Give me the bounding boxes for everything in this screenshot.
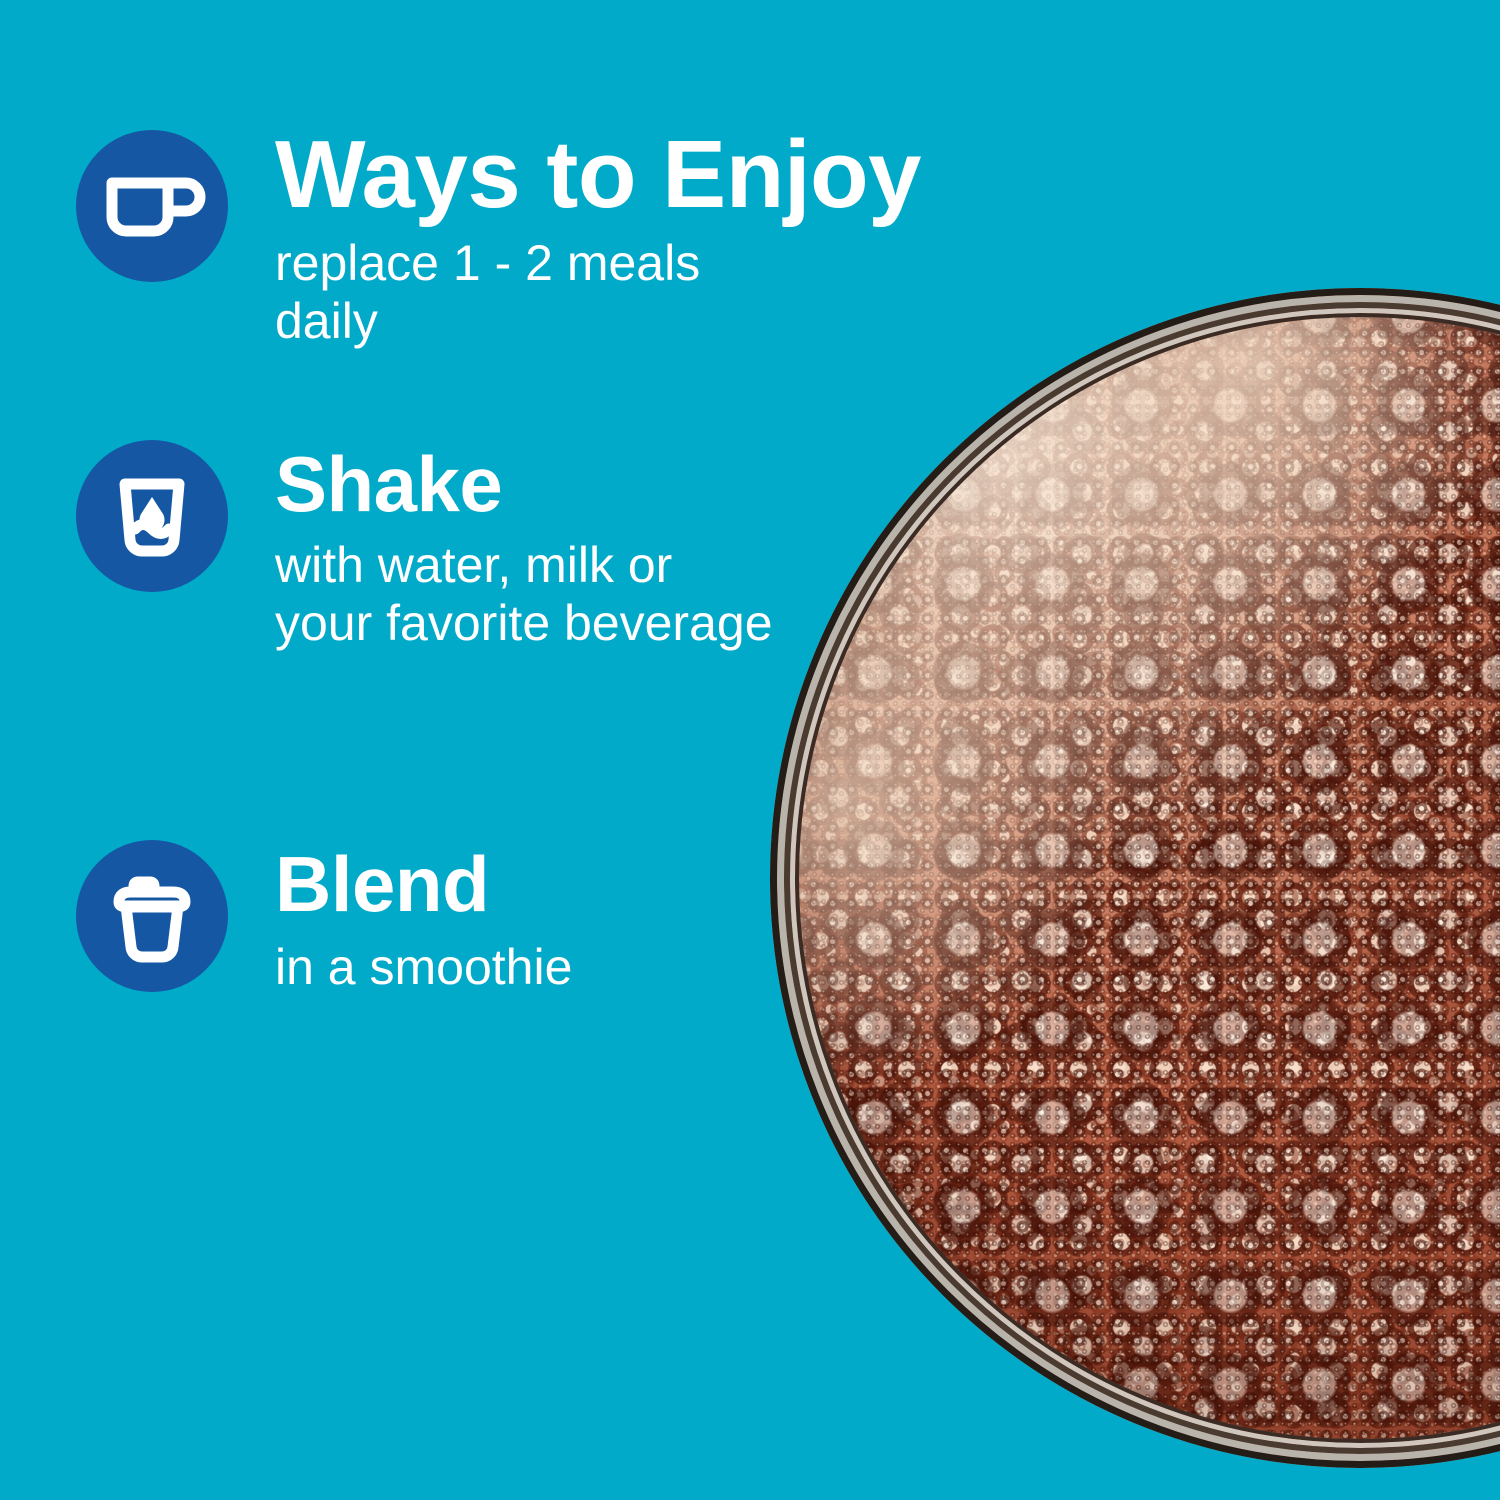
feature-headline: Blend <box>275 846 780 922</box>
glass-with-water-droplet-badge <box>76 440 228 592</box>
feature-copy-blend: Blend in a smoothie <box>275 840 780 996</box>
feature-subline: with water, milk or your favorite bevera… <box>275 536 775 652</box>
shaker-cup-icon <box>76 840 228 992</box>
feature-headline: Ways to Enjoy <box>275 128 780 222</box>
shaker-cup-badge <box>76 840 228 992</box>
feature-headline: Shake <box>275 446 780 522</box>
feature-subline: in a smoothie <box>275 938 780 996</box>
feature-copy-ways-to-enjoy: Ways to Enjoy replace 1 - 2 meals daily <box>275 130 780 350</box>
glass-with-water-droplet-icon <box>76 440 228 592</box>
product-ways-to-enjoy-graphic: Ways to Enjoy replace 1 - 2 meals daily … <box>0 0 1500 1500</box>
feature-copy-shake: Shake with water, milk or your favorite … <box>275 440 780 652</box>
cup-with-handle-icon <box>76 130 228 282</box>
glass-rim-outer-ring <box>770 288 1500 1468</box>
chocolate-shake-top-down-photo <box>770 288 1500 1468</box>
feature-subline: replace 1 - 2 meals daily <box>275 234 780 350</box>
cup-with-handle-badge <box>76 130 228 282</box>
